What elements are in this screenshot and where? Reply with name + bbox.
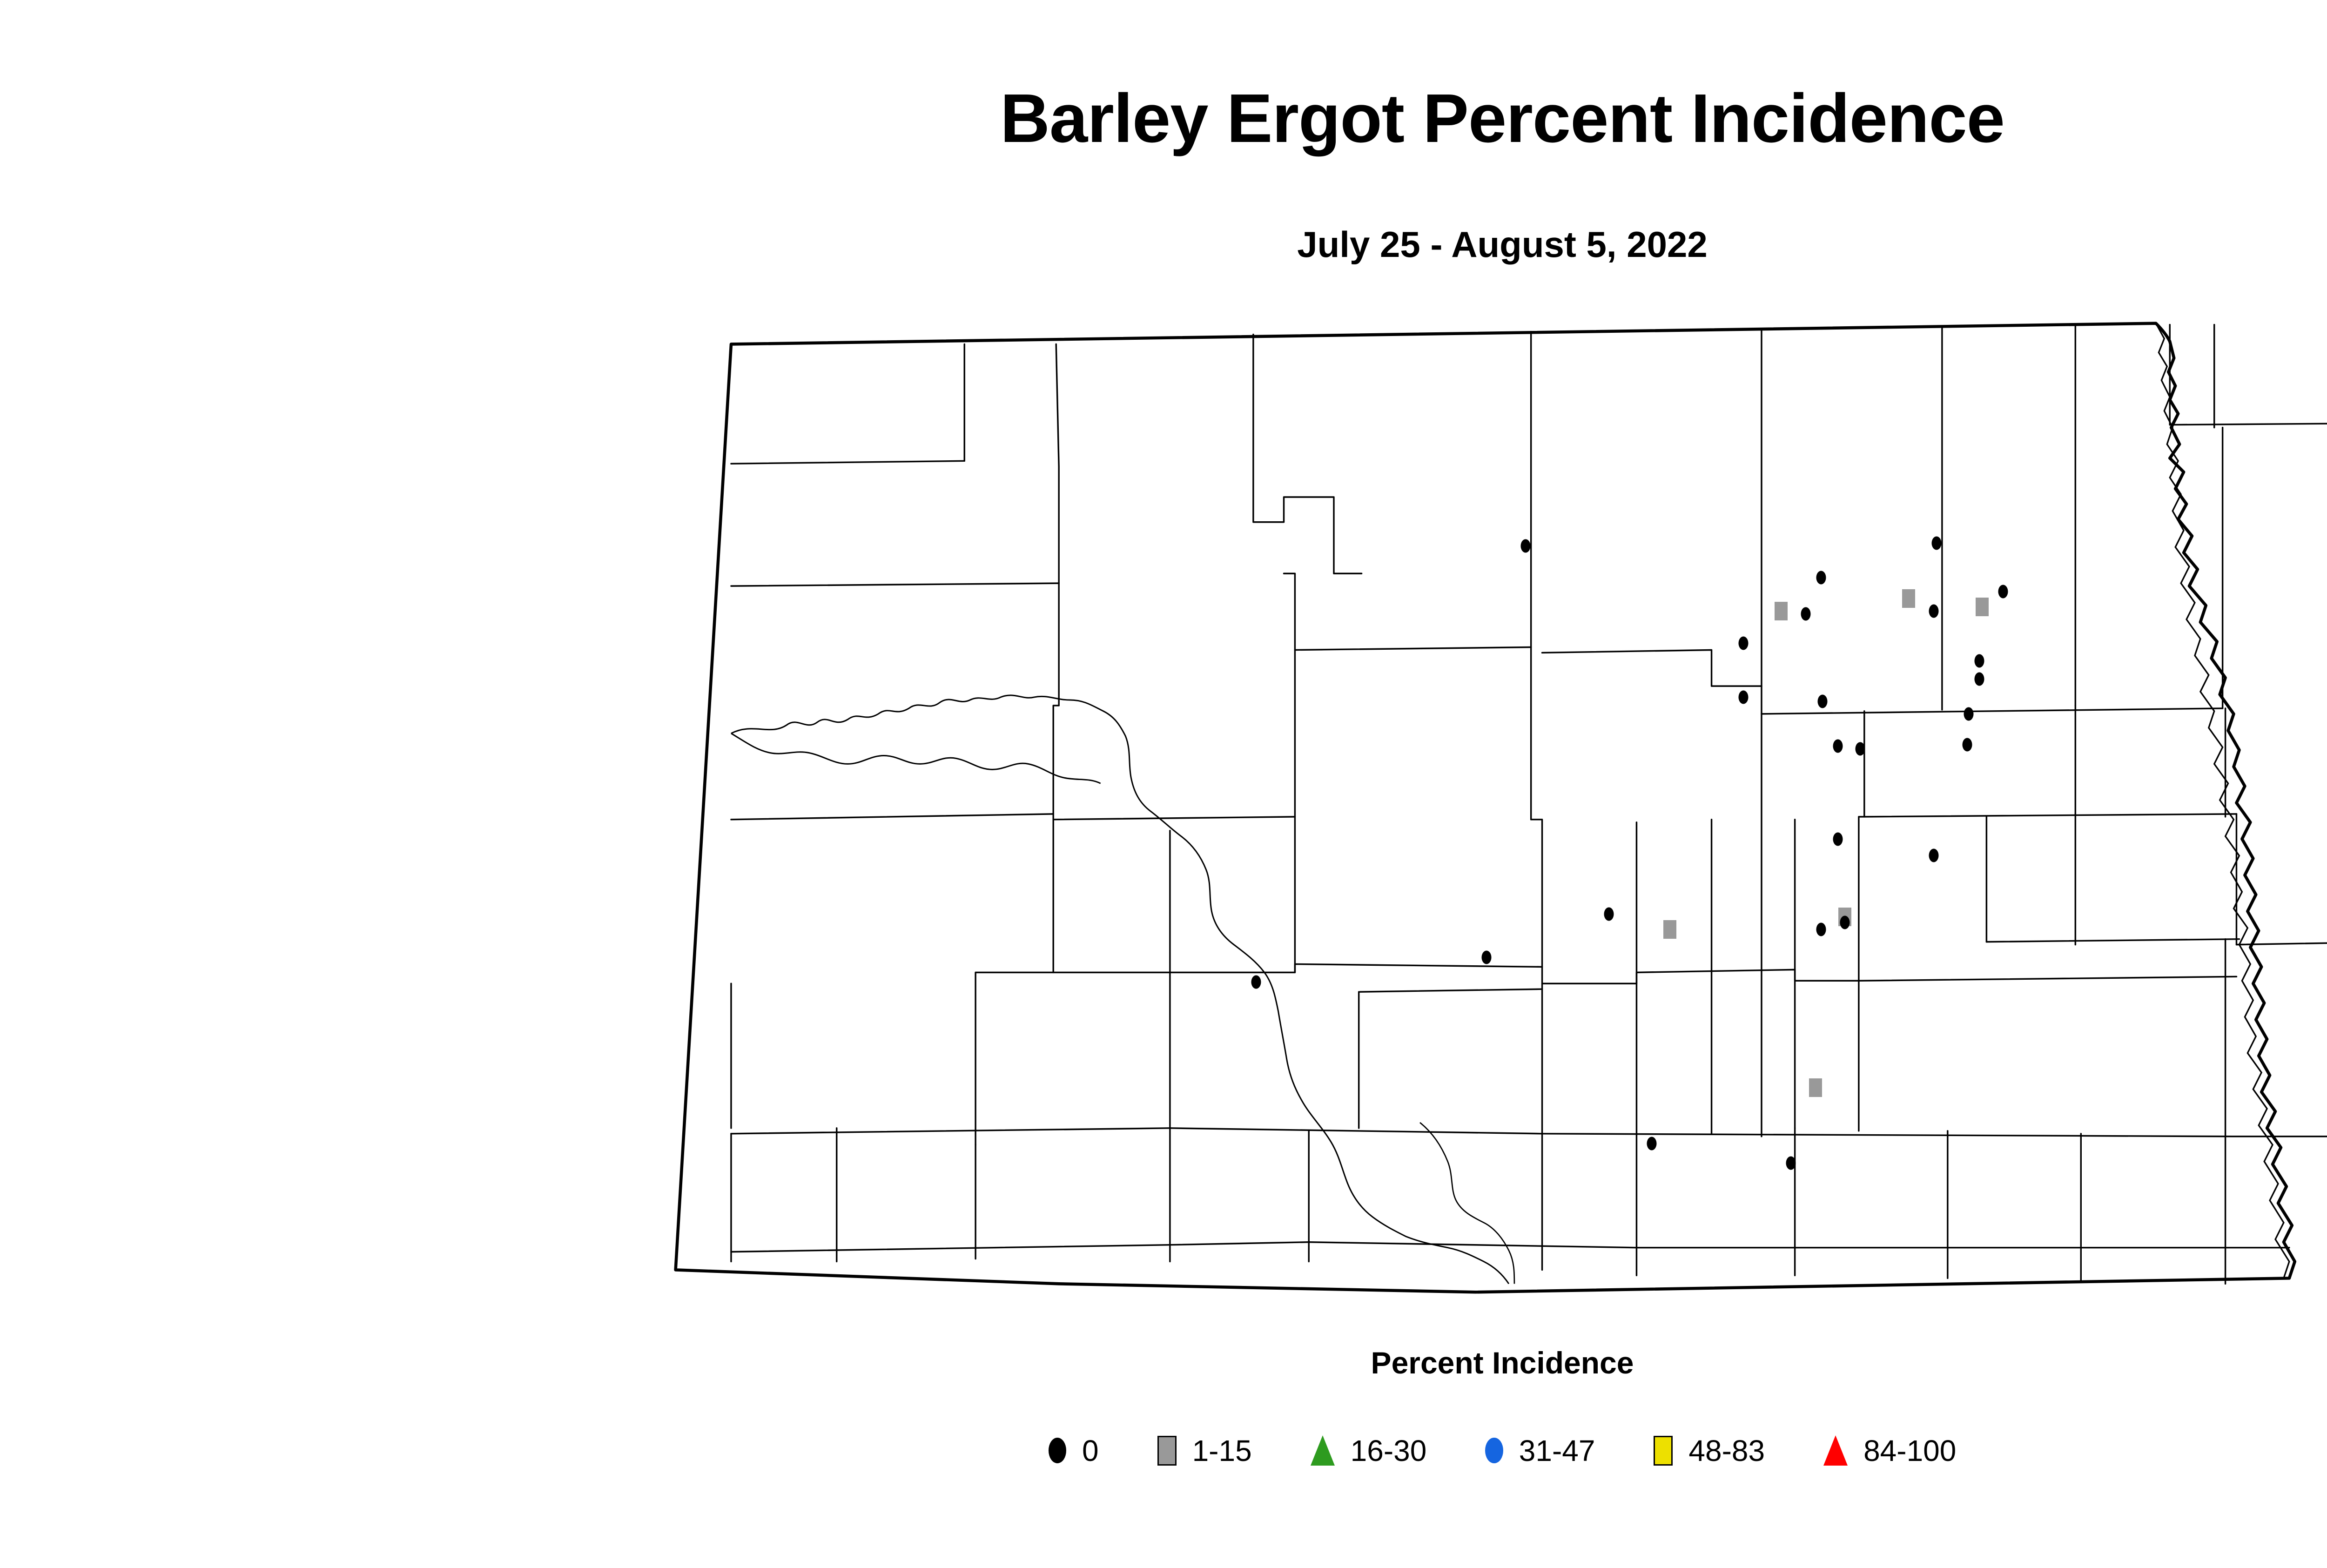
legend-item-label: 0 [1082, 1436, 1099, 1466]
map-legend: Percent Incidence 01-1516-3031-4748-8384… [0, 1345, 2327, 1466]
map-marker-0 [1931, 536, 1941, 550]
map-marker-0 [1801, 607, 1811, 620]
legend-item-label: 31-47 [1519, 1436, 1595, 1466]
legend-title: Percent Incidence [0, 1345, 2327, 1380]
map-marker-0 [1786, 1156, 1796, 1170]
page-subtitle: July 25 - August 5, 2022 [0, 223, 2327, 266]
legend-item-label: 16-30 [1351, 1436, 1427, 1466]
map-marker-0 [1833, 739, 1843, 753]
green-triangle-icon [1311, 1435, 1335, 1466]
legend-item-label: 84-100 [1863, 1436, 1956, 1466]
map-marker-0 [1840, 915, 1850, 929]
map-marker-0 [1816, 571, 1826, 585]
legend-item-label: 48-83 [1688, 1436, 1765, 1466]
map-marker-0 [1833, 832, 1843, 846]
map-marker-1-15 [1976, 598, 1989, 616]
map-marker-0 [1962, 738, 1972, 751]
data-point-markers [642, 289, 2327, 1317]
legend-item-31-47[interactable]: 31-47 [1485, 1436, 1595, 1466]
map-marker-0 [1929, 604, 1939, 618]
map-marker-0 [1482, 950, 1492, 964]
map-marker-0 [1520, 539, 1530, 552]
page-title: Barley Ergot Percent Incidence [0, 79, 2327, 158]
map-marker-0 [1739, 636, 1749, 650]
map-marker-1-15 [1902, 589, 1915, 608]
map-marker-1-15 [1809, 1078, 1822, 1097]
map-marker-0 [1998, 585, 2008, 599]
map-marker-0 [1251, 976, 1261, 989]
map-marker-0 [1604, 907, 1614, 921]
legend-item-label: 1-15 [1192, 1436, 1252, 1466]
map-marker-1-15 [1775, 602, 1788, 620]
map-marker-0 [1739, 691, 1749, 704]
map-marker-0 [1975, 654, 1984, 668]
legend-item-0[interactable]: 0 [1049, 1436, 1099, 1466]
map-marker-0 [1647, 1137, 1657, 1150]
black-circle-icon [1049, 1438, 1066, 1463]
map-marker-0 [1929, 849, 1939, 862]
legend-item-16-30[interactable]: 16-30 [1311, 1435, 1427, 1466]
map-marker-0 [1818, 694, 1828, 708]
red-triangle-icon [1823, 1435, 1848, 1466]
legend-item-84-100[interactable]: 84-100 [1823, 1435, 1956, 1466]
blue-circle-icon [1485, 1438, 1503, 1463]
legend-items: 01-1516-3031-4748-8384-100 [0, 1435, 2327, 1466]
gray-square-icon [1157, 1436, 1177, 1466]
map-marker-1-15 [1663, 920, 1676, 939]
yellow-square-icon [1654, 1436, 1673, 1466]
legend-item-48-83[interactable]: 48-83 [1654, 1436, 1765, 1466]
legend-item-1-15[interactable]: 1-15 [1157, 1436, 1252, 1466]
map-marker-0 [1855, 742, 1865, 755]
map-marker-0 [1816, 922, 1826, 936]
map-marker-0 [1964, 707, 1973, 720]
north-dakota-map [642, 289, 2327, 1317]
map-marker-0 [1975, 673, 1984, 686]
